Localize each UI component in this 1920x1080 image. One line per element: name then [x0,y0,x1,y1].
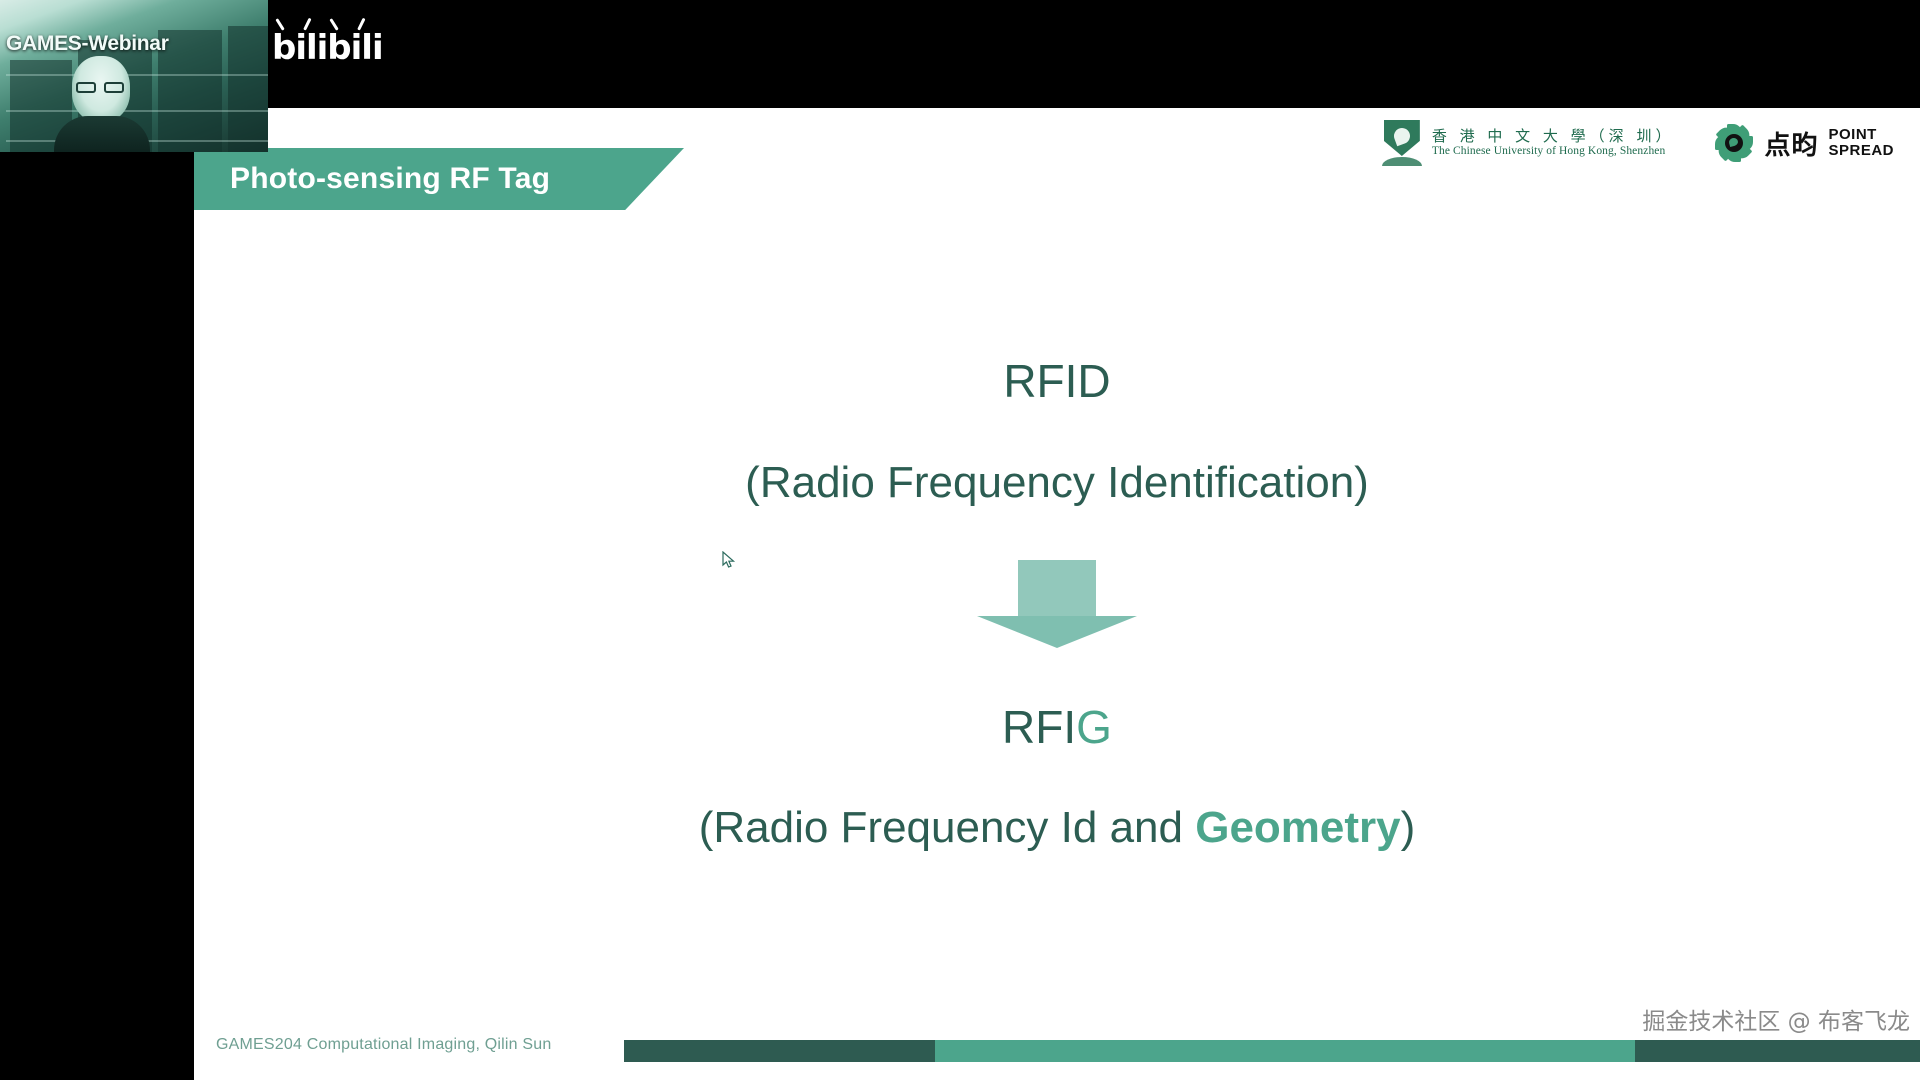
cuhk-name-cn: 香 港 中 文 大 學（深 圳） [1432,128,1675,145]
slide-progress-bar[interactable] [624,1040,1920,1062]
webinar-label: GAMES-Webinar [6,32,169,56]
mouse-pointer-icon [722,551,736,569]
cuhk-crest-icon [1382,120,1422,166]
progress-segment-done [624,1040,935,1062]
company-name-en-line2: SPREAD [1828,143,1894,159]
logo-group: 香 港 中 文 大 學（深 圳） The Chinese University … [1382,120,1894,166]
aperture-icon [1714,123,1754,163]
expansion-rfig: (Radio Frequency Id and Geometry) [194,803,1920,853]
slide-title-banner: Photo-sensing RF Tag [194,148,684,210]
expansion-rfig-accent: Geometry [1195,803,1400,852]
company-name-en-line1: POINT [1828,127,1894,143]
point-spread-logo: 点昀 POINT SPREAD [1714,123,1894,163]
slide-canvas: Photo-sensing RF Tag 香 港 中 文 大 學（深 圳） Th… [194,108,1920,1080]
webcam-video-feed[interactable]: GAMES-Webinar [0,0,268,152]
expansion-rfig-prefix: (Radio Frequency Id and [699,803,1196,852]
down-arrow-icon [977,560,1137,648]
acronym-rfig: RFIG [194,700,1920,754]
page-title: Photo-sensing RF Tag [230,162,550,196]
bilibili-wordmark: bilibili [272,28,383,68]
acronym-rfid: RFID [194,354,1920,408]
cuhk-name-en: The Chinese University of Hong Kong, She… [1432,145,1675,158]
progress-segment-rest [1635,1040,1920,1062]
cuhk-logo-text: 香 港 中 文 大 學（深 圳） The Chinese University … [1432,128,1675,158]
expansion-rfid: (Radio Frequency Identification) [194,458,1920,508]
footer-course-label: GAMES204 Computational Imaging, Qilin Su… [216,1036,551,1054]
company-name-cn: 点昀 [1764,125,1818,162]
company-name-en: POINT SPREAD [1828,127,1894,159]
speaker-avatar [54,56,150,152]
screen-root: Photo-sensing RF Tag 香 港 中 文 大 學（深 圳） Th… [0,0,1920,1080]
watermark-text: 掘金技术社区 @ 布客飞龙 [1642,1002,1910,1036]
acronym-rfig-plain: RFI [1002,701,1076,753]
cuhk-logo: 香 港 中 文 大 學（深 圳） The Chinese University … [1382,120,1675,166]
expansion-rfig-suffix: ) [1401,803,1416,852]
bilibili-logo: bilibili [272,28,383,68]
progress-segment-active [935,1040,1635,1062]
acronym-rfig-accent: G [1076,701,1112,753]
